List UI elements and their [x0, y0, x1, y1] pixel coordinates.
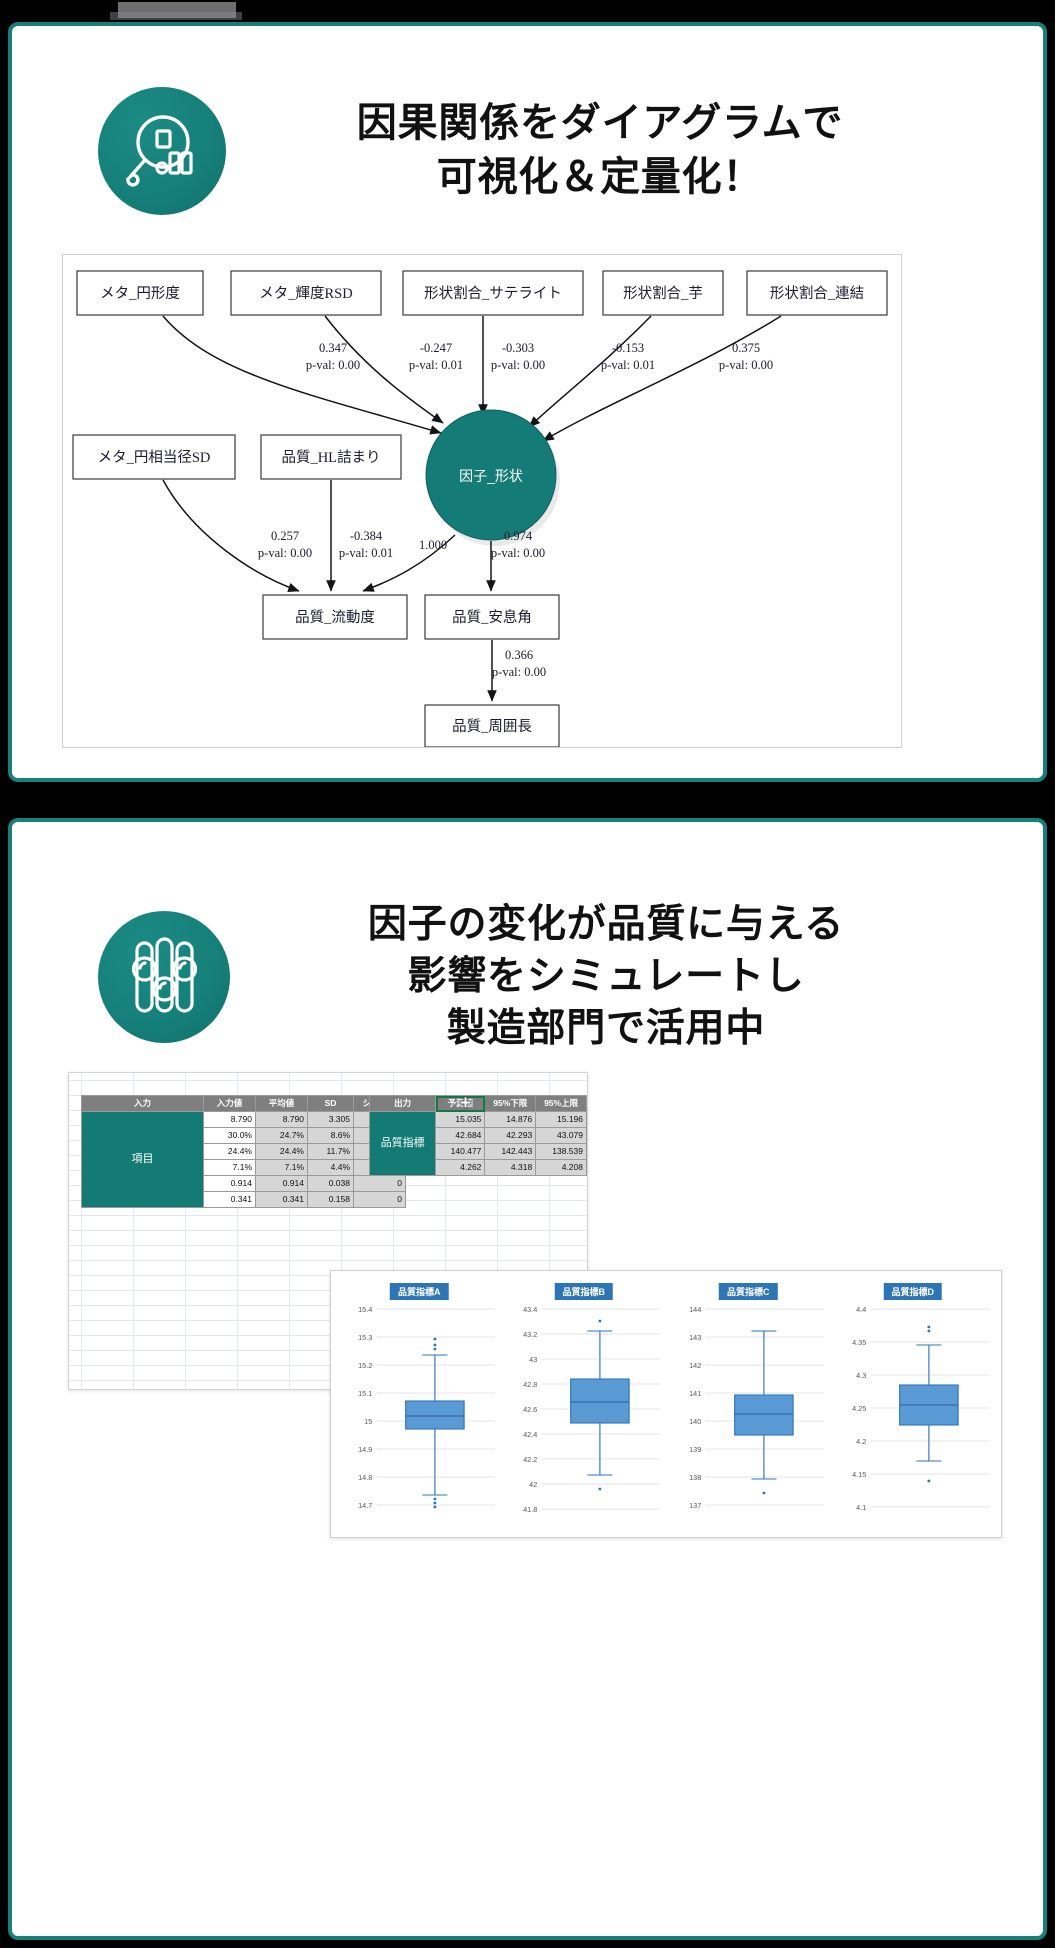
cell[interactable]: 4.318: [485, 1160, 536, 1176]
diagram-node-label: 形状割合_サテライト: [424, 285, 562, 302]
diagram-node-label: 形状割合_芋: [623, 285, 703, 302]
boxplot-panel-c: 品質指標C 1: [670, 1281, 827, 1527]
svg-text:14.9: 14.9: [358, 1446, 372, 1454]
cell[interactable]: 142.443: [485, 1144, 536, 1160]
input-col-2: 平均値: [256, 1096, 308, 1112]
svg-text:4.25: 4.25: [852, 1405, 866, 1413]
output-row-label: 品質指標: [370, 1112, 436, 1176]
edge-coef: 0.257: [271, 529, 299, 543]
svg-text:139: 139: [689, 1446, 701, 1454]
cell[interactable]: 0.914: [204, 1176, 256, 1192]
boxplot-title: 品質指標B: [555, 1283, 614, 1300]
cell[interactable]: 8.790: [204, 1112, 256, 1128]
svg-text:15.1: 15.1: [358, 1390, 372, 1398]
cell[interactable]: 0.341: [204, 1192, 256, 1208]
sliders-icon: [98, 911, 230, 1043]
svg-text:15: 15: [364, 1418, 372, 1426]
boxplot-card: 品質指標A 1: [330, 1270, 1002, 1538]
diagram-node-label: 形状割合_連結: [770, 285, 864, 302]
boxplot-plot: 15.415.3 15.215.1 1514.9 14.814.7: [341, 1303, 498, 1527]
cell[interactable]: 0: [354, 1176, 406, 1192]
section2-title-line-3: 製造部門で活用中: [230, 1003, 982, 1055]
cell[interactable]: 140.477: [436, 1144, 485, 1160]
edge-pval: p-val: 0.00: [491, 358, 545, 372]
cell[interactable]: 15.035: [436, 1112, 485, 1128]
cell[interactable]: 11.7%: [308, 1144, 354, 1160]
section2-title: 因子の変化が品質に与える 影響をシミュレートし 製造部門で活用中: [230, 899, 1022, 1056]
svg-text:144: 144: [689, 1306, 701, 1314]
svg-text:140: 140: [689, 1418, 701, 1426]
svg-text:4.1: 4.1: [856, 1504, 866, 1512]
svg-text:42: 42: [529, 1481, 537, 1489]
cell[interactable]: 7.1%: [204, 1160, 256, 1176]
diagram-node-label: メタ_円相当径SD: [98, 449, 211, 466]
svg-text:143: 143: [689, 1334, 701, 1342]
boxplot-title: 品質指標C: [719, 1283, 778, 1300]
svg-text:142: 142: [689, 1362, 701, 1370]
edge-pval: p-val: 0.00: [491, 546, 545, 560]
edge-coef: -0.384: [350, 529, 383, 543]
cell[interactable]: 42.684: [436, 1128, 485, 1144]
edge-coef: -0.153: [612, 341, 644, 355]
cell[interactable]: 0.341: [256, 1192, 308, 1208]
causal-diagram: メタ_円形度 メタ_輝度RSD 形状割合_サテライト 形状割合_芋 形状割合_連…: [62, 254, 902, 748]
output-table: 出力 予測値 95%下限 95%上限 品質指標 15.035 14.876 15…: [369, 1095, 587, 1176]
svg-text:4.15: 4.15: [852, 1471, 866, 1479]
cell[interactable]: 4.262: [436, 1160, 485, 1176]
svg-text:141: 141: [689, 1390, 701, 1398]
edge-coef: 0.375: [732, 341, 760, 355]
edge-coef: 0.974: [504, 529, 533, 543]
diagram-node-label: メタ_円形度: [100, 285, 180, 302]
output-col-0: 出力: [370, 1096, 436, 1112]
cell[interactable]: 24.4%: [204, 1144, 256, 1160]
table-row[interactable]: 項目 8.790 8.790 3.305 0: [82, 1112, 406, 1128]
cell[interactable]: 0.914: [256, 1176, 308, 1192]
svg-text:43: 43: [529, 1356, 537, 1364]
edge-coef: -0.303: [502, 341, 534, 355]
boxplot-title: 品質指標A: [390, 1283, 449, 1300]
edge-coef: 1.000: [419, 538, 447, 552]
edge-coef: 0.366: [505, 648, 533, 662]
svg-text:4.4: 4.4: [856, 1306, 866, 1314]
svg-text:42.6: 42.6: [523, 1406, 537, 1414]
section1-title: 因果関係をダイアグラムで 可視化＆定量化！: [226, 97, 1022, 204]
edge-pval: p-val: 0.01: [339, 546, 393, 560]
svg-text:4.35: 4.35: [852, 1339, 866, 1347]
section2-header: 因子の変化が品質に与える 影響をシミュレートし 製造部門で活用中: [42, 882, 1022, 1072]
svg-text:41.8: 41.8: [523, 1506, 537, 1514]
cell[interactable]: 42.293: [485, 1128, 536, 1144]
cell[interactable]: 8.6%: [308, 1128, 354, 1144]
svg-text:15.4: 15.4: [358, 1306, 372, 1314]
output-col-3: 95%上限: [536, 1096, 587, 1112]
cell[interactable]: 4.4%: [308, 1160, 354, 1176]
cell[interactable]: 0.158: [308, 1192, 354, 1208]
svg-text:4.3: 4.3: [856, 1372, 866, 1380]
boxplot-title: 品質指標D: [884, 1283, 943, 1300]
factor-node-label: 因子_形状: [459, 468, 523, 484]
edge-pval: p-val: 0.00: [258, 546, 312, 560]
cell[interactable]: 15.196: [536, 1112, 587, 1128]
boxplot-panel-d: 品質指標D 4.44.35: [835, 1281, 992, 1527]
svg-text:15.3: 15.3: [358, 1334, 372, 1342]
svg-text:138: 138: [689, 1474, 701, 1482]
svg-text:137: 137: [689, 1502, 701, 1510]
svg-text:42.8: 42.8: [523, 1381, 537, 1389]
svg-text:14.7: 14.7: [358, 1502, 372, 1510]
svg-text:4.2: 4.2: [856, 1438, 866, 1446]
edge-pval: p-val: 0.01: [409, 358, 463, 372]
cell[interactable]: 30.0%: [204, 1128, 256, 1144]
edge-pval: p-val: 0.00: [306, 358, 360, 372]
section-causal-diagram-panel: 因果関係をダイアグラムで 可視化＆定量化！: [8, 22, 1047, 782]
edge-coef: 0.347: [319, 341, 347, 355]
table-header-row: 出力 予測値 95%下限 95%上限: [370, 1096, 587, 1112]
artifact-block-2: [110, 12, 242, 20]
cell[interactable]: 7.1%: [256, 1160, 308, 1176]
section1-title-line-1: 因果関係をダイアグラムで: [226, 97, 974, 151]
cell[interactable]: 43.079: [536, 1128, 587, 1144]
edge-pval: p-val: 0.01: [601, 358, 655, 372]
section2-title-line-1: 因子の変化が品質に与える: [230, 899, 982, 951]
svg-text:43.4: 43.4: [523, 1306, 537, 1314]
svg-text:43.2: 43.2: [523, 1331, 537, 1339]
input-col-3: SD: [308, 1096, 354, 1112]
diagram-node-label: 品質_安息角: [452, 608, 532, 626]
input-table: 入力 入力値 平均値 SD シグマ数 項目 8.790 8.790 3.305 …: [81, 1095, 406, 1208]
boxplot-row: 品質指標A 1: [341, 1281, 991, 1527]
edge-pval: p-val: 0.00: [719, 358, 773, 372]
diagram-node-label: メタ_輝度RSD: [259, 285, 352, 302]
cell[interactable]: 4.208: [536, 1160, 587, 1176]
cell[interactable]: 0.038: [308, 1176, 354, 1192]
top-artifact-strip: [0, 0, 1055, 22]
section1-title-line-2: 可視化＆定量化！: [226, 151, 974, 205]
output-col-2: 95%下限: [485, 1096, 536, 1112]
svg-text:15.2: 15.2: [358, 1362, 372, 1370]
cell[interactable]: 8.790: [256, 1112, 308, 1128]
boxplot-plot: 144143 142141 140139 138137: [670, 1303, 827, 1527]
svg-text:42.2: 42.2: [523, 1456, 537, 1464]
boxplot-panel-b: 品質指標B: [506, 1281, 663, 1527]
boxplot-plot: 43.443.2 4342.8 42.642.4 42.242 41.8: [506, 1303, 663, 1527]
edge-coef: -0.247: [420, 341, 452, 355]
svg-text:42.4: 42.4: [523, 1431, 537, 1439]
diagram-node-label: 品質_HL詰まり: [281, 448, 380, 466]
boxplot-plot: 4.44.35 4.34.25 4.24.15 4.1: [835, 1303, 992, 1527]
section2-title-line-2: 影響をシミュレートし: [230, 951, 982, 1003]
cell[interactable]: 0: [354, 1192, 406, 1208]
diagram-node-label: 品質_周囲長: [452, 717, 532, 735]
input-col-1: 入力値: [204, 1096, 256, 1112]
output-col-1-selected[interactable]: 予測値: [436, 1096, 485, 1112]
svg-text:14.8: 14.8: [358, 1474, 372, 1482]
cell[interactable]: 138.539: [536, 1144, 587, 1160]
causal-diagram-svg: メタ_円形度 メタ_輝度RSD 形状割合_サテライト 形状割合_芋 形状割合_連…: [63, 255, 901, 747]
cell[interactable]: 24.7%: [256, 1128, 308, 1144]
edge-pval: p-val: 0.00: [492, 665, 546, 679]
table-row[interactable]: 品質指標 15.035 14.876 15.196: [370, 1112, 587, 1128]
magnifier-bar-chart-icon: [98, 87, 226, 215]
input-row-label: 項目: [82, 1112, 204, 1208]
section1-header: 因果関係をダイアグラムで 可視化＆定量化！: [42, 71, 1022, 231]
cell[interactable]: 3.305: [308, 1112, 354, 1128]
cell[interactable]: 24.4%: [256, 1144, 308, 1160]
cell[interactable]: 14.876: [485, 1112, 536, 1128]
table-header-row: 入力 入力値 平均値 SD シグマ数: [82, 1096, 406, 1112]
input-col-0: 入力: [82, 1096, 204, 1112]
diagram-node-label: 品質_流動度: [295, 608, 375, 626]
section-simulation-panel: 因子の変化が品質に与える 影響をシミュレートし 製造部門で活用中 入力 入力値 …: [8, 818, 1047, 1940]
boxplot-panel-a: 品質指標A 1: [341, 1281, 498, 1527]
